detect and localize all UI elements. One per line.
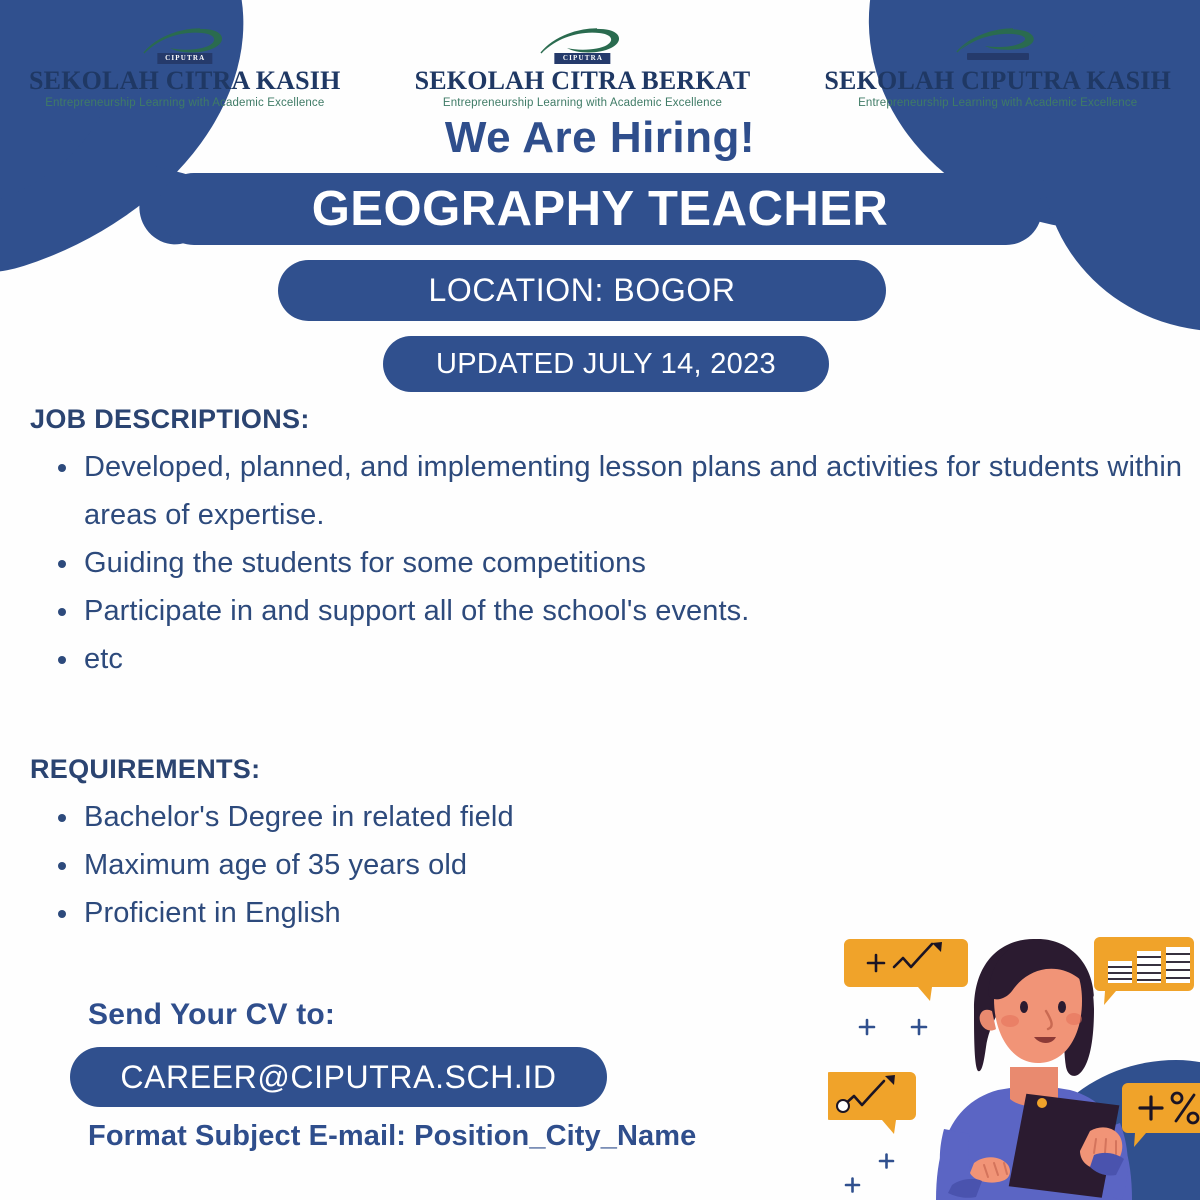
ciputra-swoosh-bar-icon — [938, 26, 1058, 66]
job-descriptions-heading: JOB DESCRIPTIONS: — [30, 404, 310, 435]
location-pill: LOCATION: BOGOR — [278, 260, 886, 321]
ciputra-badge: CIPUTRA — [157, 53, 212, 64]
school-logos-row: CIPUTRA SEKOLAH CITRA KASIH Entrepreneur… — [0, 26, 1200, 110]
list-item: Participate in and support all of the sc… — [84, 587, 1194, 635]
logo-name-text: SEKOLAH CIPUTRA KASIH — [824, 67, 1171, 95]
swoosh-shape-icon — [142, 26, 228, 56]
job-descriptions-list: Developed, planned, and implementing les… — [48, 443, 1194, 683]
logo-tagline-text: Entrepreneurship Learning with Academic … — [824, 96, 1171, 110]
list-item: etc — [84, 635, 1194, 683]
swoosh-shape-icon — [955, 26, 1041, 56]
logo-sekolah-ciputra-kasih: SEKOLAH CIPUTRA KASIH Entrepreneurship L… — [824, 26, 1171, 110]
email-address-pill[interactable]: CAREER@CIPUTRA.SCH.ID — [70, 1047, 607, 1107]
list-item: Proficient in English — [84, 889, 784, 937]
logo-tagline-text: Entrepreneurship Learning with Academic … — [29, 96, 341, 110]
job-posting-poster: CIPUTRA SEKOLAH CITRA KASIH Entrepreneur… — [0, 0, 1200, 1200]
ciputra-badge: CIPUTRA — [555, 53, 610, 64]
ciputra-swoosh-icon: CIPUTRA — [522, 26, 642, 66]
logo-sekolah-citra-berkat: CIPUTRA SEKOLAH CITRA BERKAT Entrepreneu… — [415, 26, 751, 110]
updated-date-pill: UPDATED JULY 14, 2023 — [383, 336, 829, 392]
ciputra-bar-badge — [967, 53, 1029, 60]
swoosh-shape-icon — [539, 26, 625, 56]
requirements-list: Bachelor's Degree in related field Maxim… — [48, 793, 784, 937]
logo-name-text: SEKOLAH CITRA BERKAT — [415, 67, 751, 95]
bubble-bar-table — [1094, 937, 1194, 1005]
logo-name-text: SEKOLAH CITRA KASIH — [29, 67, 341, 95]
logo-sekolah-citra-kasih: CIPUTRA SEKOLAH CITRA KASIH Entrepreneur… — [29, 26, 341, 110]
logo-tagline-text: Entrepreneurship Learning with Academic … — [415, 96, 751, 110]
bubble-trend-dot — [828, 1072, 916, 1134]
list-item: Maximum age of 35 years old — [84, 841, 784, 889]
list-item: Developed, planned, and implementing les… — [84, 443, 1194, 539]
requirements-heading: REQUIREMENTS: — [30, 754, 260, 785]
ciputra-swoosh-icon: CIPUTRA — [125, 26, 245, 66]
woman-with-tablet-illustration — [828, 915, 1200, 1200]
bubble-trend-up-plus — [844, 939, 968, 1001]
list-item: Guiding the students for some competitio… — [84, 539, 1194, 587]
position-title-pill: GEOGRAPHY TEACHER — [158, 173, 1042, 245]
list-item: Bachelor's Degree in related field — [84, 793, 784, 841]
email-subject-format-note: Format Subject E-mail: Position_City_Nam… — [88, 1120, 696, 1153]
bubble-plus-percent — [1122, 1083, 1200, 1147]
send-cv-label: Send Your CV to: — [88, 998, 335, 1032]
hiring-headline: We Are Hiring! — [0, 113, 1200, 163]
